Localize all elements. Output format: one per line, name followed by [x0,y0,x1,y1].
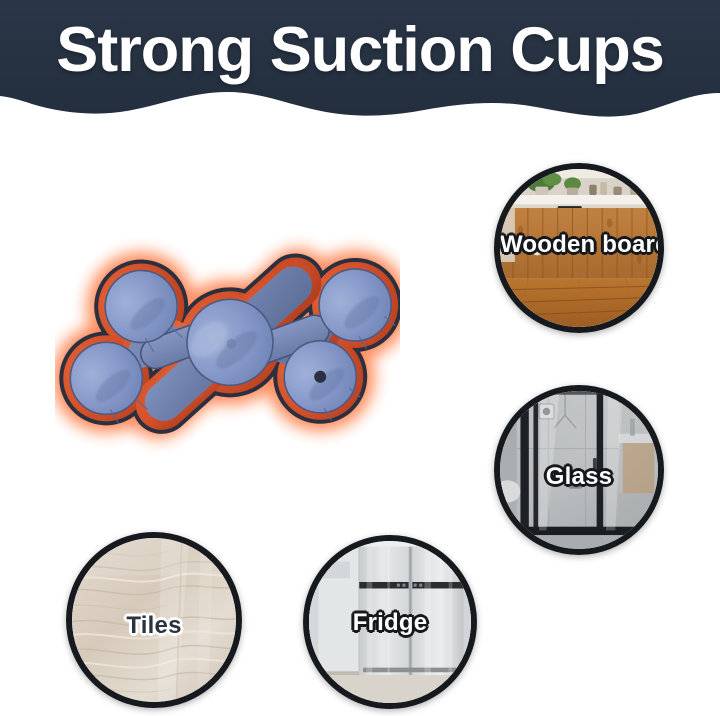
surface-caption-glass: Glass [500,463,658,491]
surface-caption-fridge: Fridge [309,609,471,637]
surface-circle-fridge[interactable]: Fridge [303,535,477,709]
page-title: Strong Suction Cups [0,10,720,90]
surface-circle-tiles[interactable]: Tiles [66,532,242,708]
product-image-suction-bracket [55,135,400,555]
surface-circle-glass[interactable]: Glass [494,385,664,555]
surface-caption-wooden-board: Wooden board [500,231,658,259]
surface-circle-wooden-board[interactable]: Wooden board [494,163,664,333]
surface-caption-tiles: Tiles [72,612,236,640]
